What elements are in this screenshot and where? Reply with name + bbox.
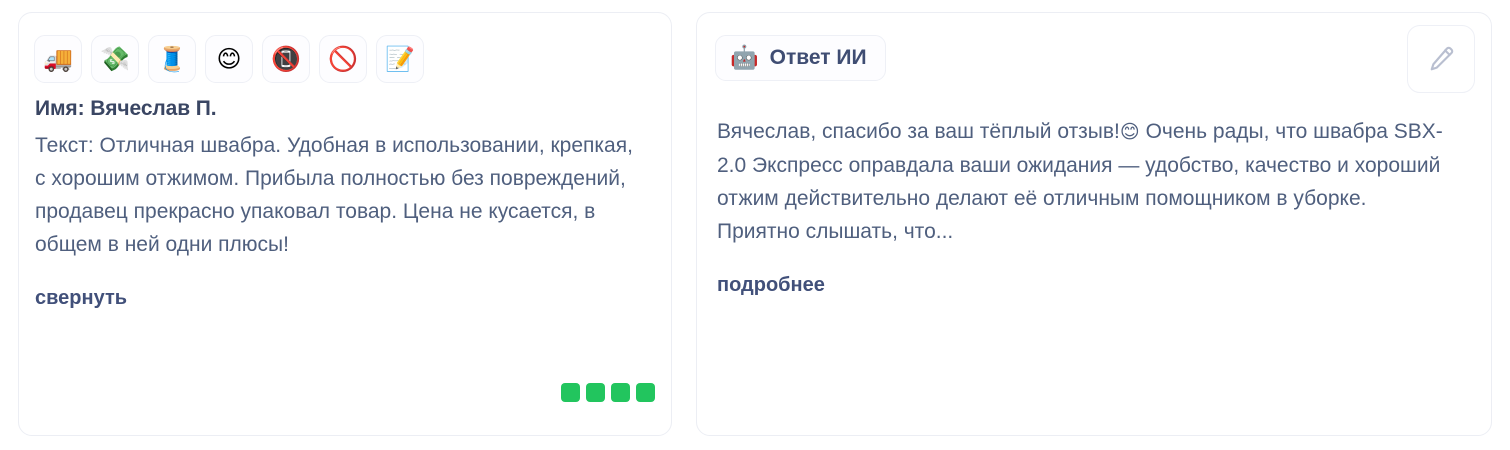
ai-reply-body-text: Вячеслав, спасибо за ваш тёплый отзыв!😊 … [717,115,1455,248]
no-mobile-phones-icon: 📵 [271,47,301,71]
review-reply-board: 🚚 💸 🧵 😊 📵 🚫 📝 Имя: Вячеслав П. Текст: О [0,0,1510,450]
rating-indicator [561,383,655,402]
ai-reply-badge-label: Ответ ИИ [770,46,867,70]
tag-chip-prohibited[interactable]: 🚫 [319,35,367,83]
delivery-truck-icon: 🚚 [43,47,73,71]
review-tag-strip: 🚚 💸 🧵 😊 📵 🚫 📝 [34,35,649,83]
tag-chip-memo[interactable]: 📝 [376,35,424,83]
ai-reply-header: 🤖 Ответ ИИ [715,35,1471,93]
tag-chip-money-with-wings[interactable]: 💸 [91,35,139,83]
tag-chip-delivery-truck[interactable]: 🚚 [34,35,82,83]
tag-chip-thread-spool[interactable]: 🧵 [148,35,196,83]
edit-reply-button[interactable] [1407,25,1475,93]
pencil-icon [1426,44,1456,74]
rating-square [586,383,605,402]
rating-square [611,383,630,402]
thread-spool-icon: 🧵 [157,47,187,71]
prohibited-icon: 🚫 [328,47,358,71]
smiling-face-icon: 😊 [1120,121,1140,143]
review-card: 🚚 💸 🧵 😊 📵 🚫 📝 Имя: Вячеслав П. Текст: О [18,12,672,436]
ai-reply-card: 🤖 Ответ ИИ Вячеслав, спасибо за ваш тёпл… [696,12,1492,436]
tag-chip-smiling-face[interactable]: 😊 [205,35,253,83]
rating-square [636,383,655,402]
reviewer-name: Имя: Вячеслав П. [35,97,649,121]
tag-chip-no-mobile-phones[interactable]: 📵 [262,35,310,83]
rating-square [561,383,580,402]
money-with-wings-icon: 💸 [100,47,130,71]
robot-face-icon: 🤖 [730,47,759,70]
collapse-review-link[interactable]: свернуть [35,287,127,310]
expand-reply-link[interactable]: подробнее [717,274,825,297]
ai-reply-badge: 🤖 Ответ ИИ [715,35,886,81]
memo-icon: 📝 [385,47,415,71]
smiling-face-icon: 😊 [216,47,241,71]
ai-reply-text-part-1: Вячеслав, спасибо за ваш тёплый отзыв! [717,120,1120,143]
review-body-text: Текст: Отличная швабра. Удобная в исполь… [35,129,649,261]
